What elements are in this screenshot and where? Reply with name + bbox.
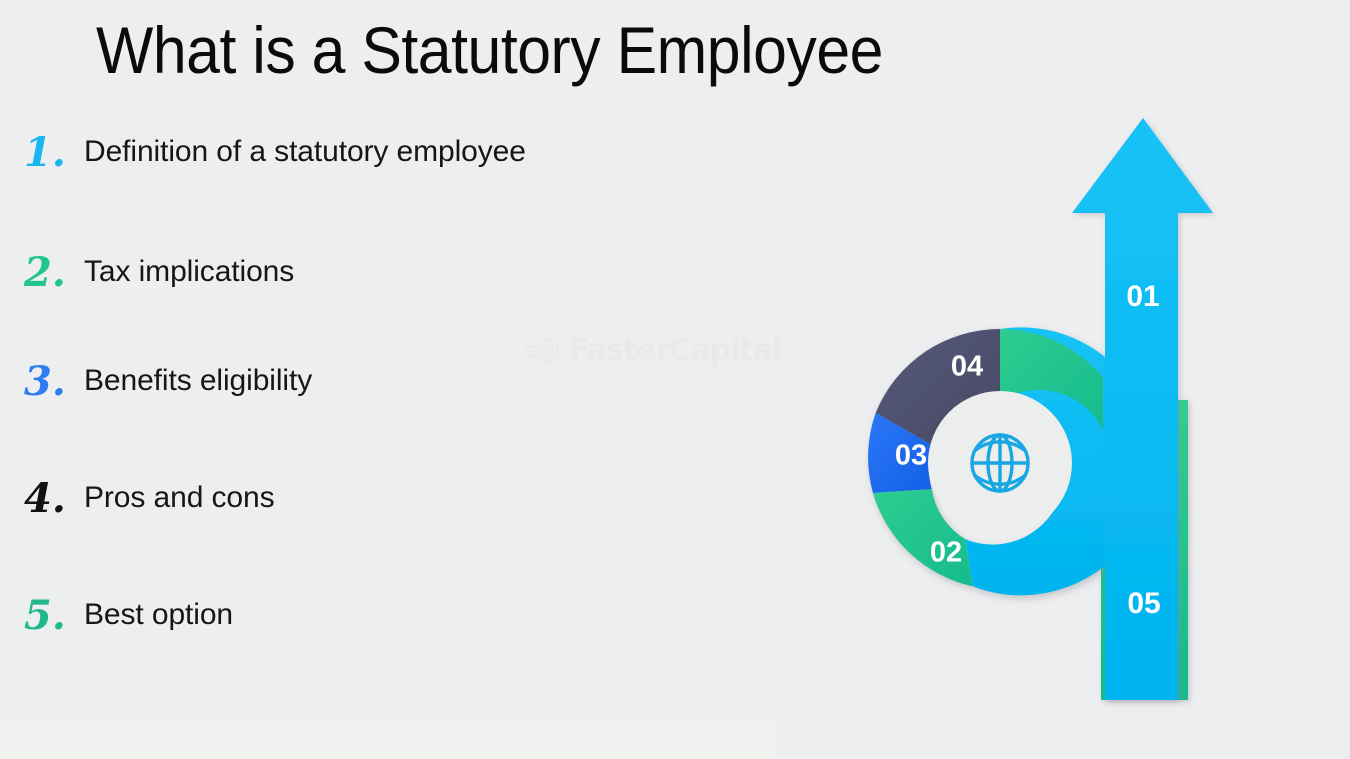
bar-label: 05 (1127, 587, 1160, 620)
infographic-svg: 04 03 02 01 05 (840, 100, 1350, 740)
list-item-number: 4. (18, 477, 84, 521)
list-item-label: Pros and cons (84, 477, 274, 518)
list-item-label: Best option (84, 594, 233, 635)
segment-04-label: 04 (951, 351, 983, 383)
segment-03-label: 03 (895, 440, 927, 472)
slide-canvas: What is a Statutory Employee 1. Definiti… (0, 0, 1350, 759)
list-item[interactable]: 5. Best option (18, 594, 538, 694)
globe-icon (972, 435, 1028, 491)
list-item-label: Tax implications (84, 251, 294, 292)
list-item-label: Definition of a statutory employee (84, 131, 526, 172)
list-item-number: 3. (18, 360, 84, 404)
page-title: What is a Statutory Employee (96, 7, 883, 93)
arrow-label: 01 (1126, 280, 1159, 313)
list-item-number: 2. (18, 251, 84, 295)
list-item-number: 5. (18, 594, 84, 638)
infographic-chart: 04 03 02 01 05 (840, 100, 1350, 740)
agenda-list: 1. Definition of a statutory employee 2.… (18, 131, 538, 694)
list-item[interactable]: 2. Tax implications (18, 251, 538, 360)
list-item[interactable]: 1. Definition of a statutory employee (18, 131, 538, 251)
list-item[interactable]: 4. Pros and cons (18, 477, 538, 594)
segment-02-label: 02 (930, 537, 962, 569)
list-item-number: 1. (18, 131, 84, 175)
list-item[interactable]: 3. Benefits eligibility (18, 360, 538, 477)
bottom-band (0, 721, 776, 759)
watermark-text: FasterCapital (569, 333, 781, 368)
list-item-label: Benefits eligibility (84, 360, 312, 401)
watermark: FasterCapital (525, 333, 781, 368)
